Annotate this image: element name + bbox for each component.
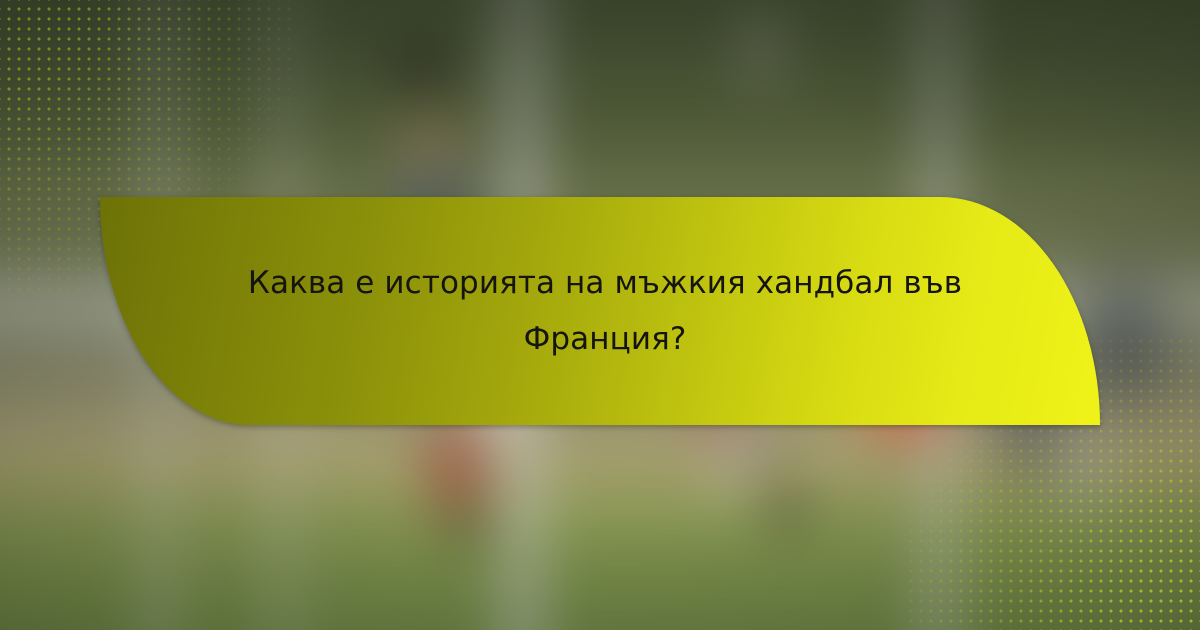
question-banner: Каква е историята на мъжкия хандбал във … — [100, 197, 1100, 425]
question-line-1: Каква е историята на мъжкия хандбал във — [248, 255, 962, 311]
share-card: Каква е историята на мъжкия хандбал във … — [0, 0, 1200, 630]
question-line-2: Франция? — [524, 311, 687, 367]
question-text-block: Каква е историята на мъжкия хандбал във … — [100, 197, 1100, 425]
